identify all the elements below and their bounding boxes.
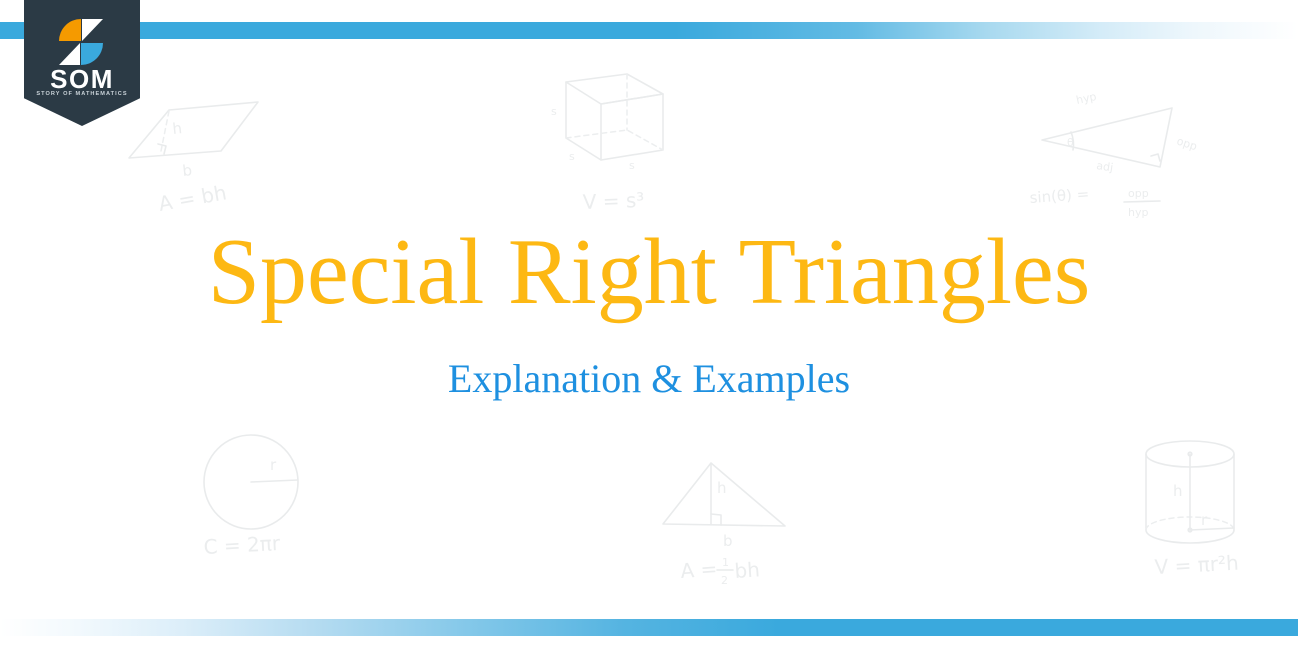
doodle-trig-triangle: hyp opp adj θ sin(θ) = opp hyp [1020, 82, 1220, 227]
doodle-label-b: b [182, 161, 193, 180]
doodle-label-adj: adj [1096, 159, 1114, 174]
som-wordmark: SOM [24, 66, 140, 92]
doodle-formula-volume-cylinder: V = πr²h [1154, 551, 1239, 579]
doodle-label-r-cylinder: r [1201, 511, 1208, 529]
doodle-formula-sine-numerator: opp [1128, 187, 1149, 200]
doodle-formula-area-triangle-lhs: A = [680, 556, 718, 583]
page-subtitle: Explanation & Examples [0, 357, 1298, 401]
doodle-formula-volume-cube: V = s³ [582, 188, 644, 214]
doodle-formula-area-triangle-denominator: 2 [721, 574, 728, 587]
title-slide: h b A = bh s s s V = s³ hyp opp adj θ [0, 0, 1298, 649]
doodle-formula-sine-lhs: sin(θ) = [1029, 185, 1090, 207]
doodle-triangle: h b A = 1 2 bh [655, 458, 815, 590]
top-accent-rule [0, 22, 1298, 39]
doodle-label-h: h [172, 119, 183, 138]
som-pinwheel-icon [58, 18, 104, 66]
som-tagline: STORY OF MATHEMATICS [24, 92, 140, 98]
doodle-cube: s s s V = s³ [535, 72, 700, 227]
bottom-accent-rule [0, 619, 1298, 636]
doodle-label-theta: θ [1067, 136, 1074, 149]
doodle-formula-sine-denominator: hyp [1128, 206, 1148, 219]
page-title: Special Right Triangles [0, 222, 1298, 324]
doodle-cylinder: h r V = πr²h [1135, 432, 1295, 592]
doodle-label-r: r [270, 456, 277, 474]
doodle-formula-area-triangle-rhs: bh [734, 557, 761, 583]
doodle-formula-circumference: C = 2πr [203, 531, 281, 559]
doodle-label-opp: opp [1175, 134, 1199, 153]
doodle-label-s-left: s [551, 105, 557, 118]
doodle-label-s-bottom-left: s [569, 150, 575, 163]
doodle-label-b-triangle: b [723, 532, 733, 550]
doodle-label-h-triangle: h [717, 479, 727, 497]
doodle-label-hyp: hyp [1075, 90, 1098, 107]
doodle-label-h-cylinder: h [1173, 482, 1183, 500]
doodle-label-s-bottom-right: s [629, 159, 635, 172]
doodle-formula-area-triangle-numerator: 1 [722, 556, 729, 569]
doodle-formula-area-parallelogram: A = bh [157, 180, 229, 216]
doodle-circle: r C = 2πr [196, 432, 336, 572]
doodle-parallelogram: h b A = bh [125, 98, 270, 223]
